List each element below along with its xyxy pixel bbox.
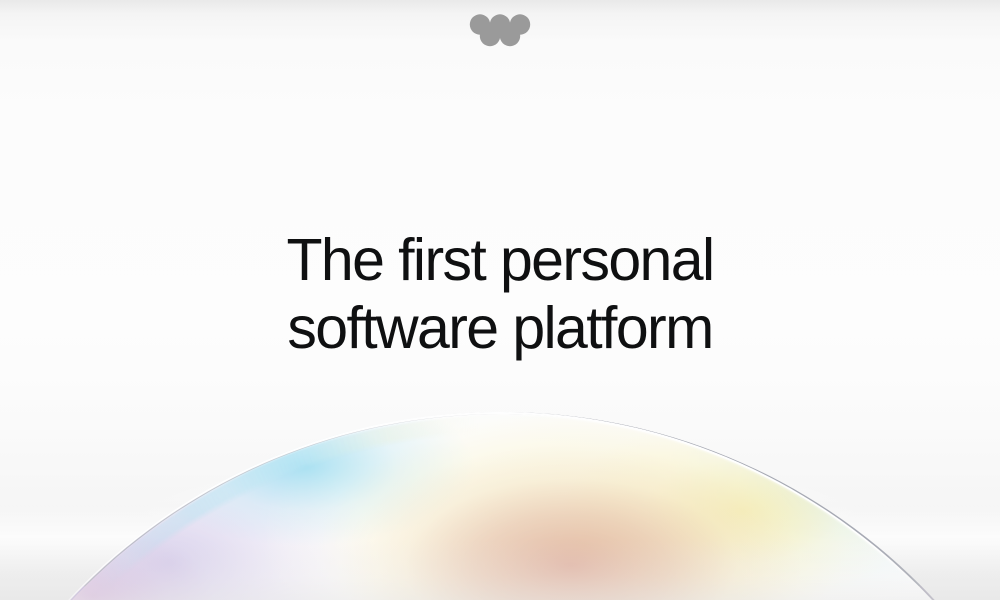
brand-logo	[468, 13, 532, 47]
page-title: The first personal software platform	[0, 226, 1000, 362]
five-circles-logo-icon	[468, 13, 532, 47]
presentation-slide: The first personal software platform	[0, 0, 1000, 600]
